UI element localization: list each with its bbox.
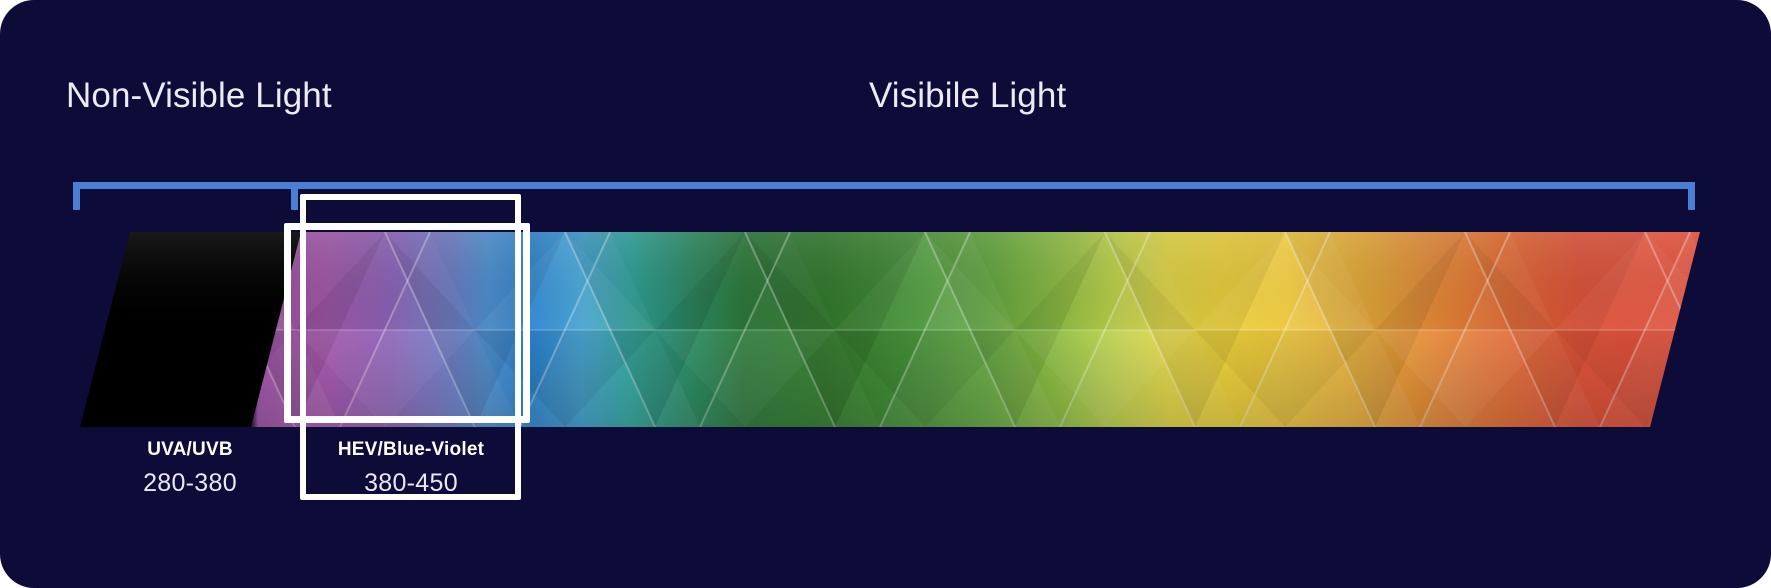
uv-caption: UVA/UVB 280-380 <box>100 437 280 500</box>
bracket-tick-right <box>1688 182 1695 210</box>
spectrum-card: Non-Visible Light Visibile Light <box>0 0 1771 588</box>
visible-light-range-bracket <box>73 182 1695 210</box>
spectrum-svg <box>80 232 1700 427</box>
hev-caption: HEV/Blue-Violet 380-450 <box>302 437 520 500</box>
light-spectrum-band <box>80 232 1700 427</box>
uv-caption-range: 280-380 <box>100 467 280 501</box>
uv-caption-title: UVA/UVB <box>100 437 280 463</box>
bracket-tick-left <box>73 182 80 210</box>
infographic-canvas: Non-Visible Light Visibile Light <box>0 0 1771 588</box>
heading-visible-light: Visibile Light <box>869 76 1066 116</box>
hev-caption-title: HEV/Blue-Violet <box>302 437 520 463</box>
bracket-tick-mid <box>291 182 298 210</box>
hev-caption-range: 380-450 <box>302 467 520 501</box>
heading-non-visible-light: Non-Visible Light <box>66 76 332 116</box>
bracket-bar <box>73 182 1695 189</box>
